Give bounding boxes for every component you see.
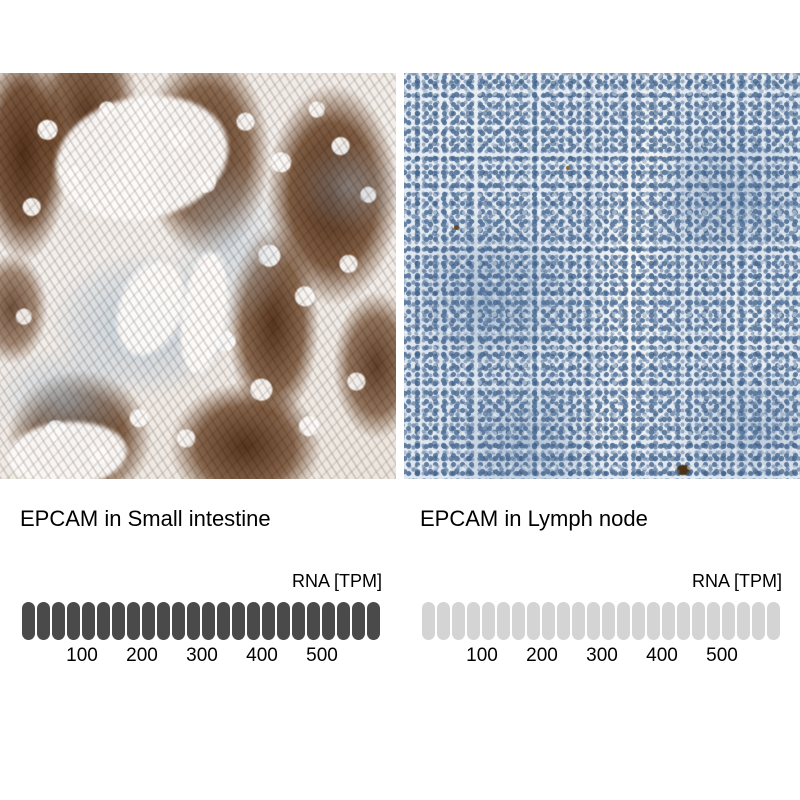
rna-unit-label: RNA [TPM] xyxy=(692,570,782,592)
rna-gauge-segment xyxy=(512,602,525,640)
pigment-speck xyxy=(454,225,459,230)
rna-gauge-tick-label: 300 xyxy=(186,644,218,668)
micrograph-small-intestine[interactable] xyxy=(0,73,396,479)
rna-gauge-segment xyxy=(752,602,765,640)
rna-gauge-tick-label: 200 xyxy=(126,644,158,668)
rna-gauge-segment xyxy=(217,602,230,640)
rna-unit-label: RNA [TPM] xyxy=(292,570,382,592)
rna-gauge-segment xyxy=(157,602,170,640)
rna-gauge-segment xyxy=(542,602,555,640)
rna-gauge-segment xyxy=(127,602,140,640)
rna-gauge-segment xyxy=(722,602,735,640)
rna-gauge-segment xyxy=(602,602,615,640)
caption-lymph-node: EPCAM in Lymph node xyxy=(420,506,648,532)
rna-gauge-segment xyxy=(662,602,675,640)
rna-gauge-segment xyxy=(707,602,720,640)
rna-gauge-segment xyxy=(172,602,185,640)
rna-gauge-segment xyxy=(467,602,480,640)
rna-gauge-segment xyxy=(277,602,290,640)
rna-gauge-segment xyxy=(97,602,110,640)
rna-gauge-ticks: 100200300400500 xyxy=(420,644,782,668)
rna-gauge-segment xyxy=(247,602,260,640)
rna-gauge-tick-label: 500 xyxy=(306,644,338,668)
rna-gauge-small-intestine: RNA [TPM] 100200300400500 xyxy=(20,570,382,680)
rna-gauge-bar[interactable] xyxy=(22,602,380,640)
tissue-lumen xyxy=(174,249,234,376)
panel-small-intestine[interactable] xyxy=(0,73,396,479)
rna-gauge-segment xyxy=(497,602,510,640)
rna-gauge-tick-label: 400 xyxy=(646,644,678,668)
panel-lymph-node[interactable] xyxy=(404,73,800,479)
rna-gauge-segment xyxy=(647,602,660,640)
rna-gauge-segment xyxy=(767,602,780,640)
pigment-speck xyxy=(677,465,690,475)
rna-gauge-bar[interactable] xyxy=(422,602,780,640)
rna-gauge-tick-label: 100 xyxy=(66,644,98,668)
rna-gauge-segment xyxy=(557,602,570,640)
rna-gauge-tick-label: 200 xyxy=(526,644,558,668)
rna-gauge-segment xyxy=(452,602,465,640)
rna-gauge-segment xyxy=(422,602,435,640)
rna-gauge-tick-label: 300 xyxy=(586,644,618,668)
rna-gauge-segment xyxy=(692,602,705,640)
rna-gauge-lymph-node: RNA [TPM] 100200300400500 xyxy=(420,570,782,680)
rna-gauge-segment xyxy=(437,602,450,640)
rna-gauge-segment xyxy=(632,602,645,640)
rna-gauge-segment xyxy=(262,602,275,640)
rna-gauge-segment xyxy=(67,602,80,640)
tissue-lumen xyxy=(6,418,129,479)
pigment-speck xyxy=(566,166,570,170)
rna-gauge-segment xyxy=(322,602,335,640)
caption-small-intestine: EPCAM in Small intestine xyxy=(20,506,271,532)
rna-gauge-tick-label: 400 xyxy=(246,644,278,668)
micrograph-panels xyxy=(0,73,800,479)
rna-gauge-segment xyxy=(52,602,65,640)
rna-gauge-segment xyxy=(142,602,155,640)
tissue-lumen xyxy=(45,81,241,236)
rna-gauge-segment xyxy=(82,602,95,640)
rna-gauge-segment xyxy=(677,602,690,640)
rna-gauge-tick-label: 500 xyxy=(706,644,738,668)
rna-gauge-segment xyxy=(527,602,540,640)
micrograph-lymph-node[interactable] xyxy=(404,73,800,479)
rna-gauge-segment xyxy=(587,602,600,640)
rna-gauge-segment xyxy=(337,602,350,640)
rna-gauge-segment xyxy=(112,602,125,640)
rna-gauge-segment xyxy=(617,602,630,640)
rna-gauge-segment xyxy=(292,602,305,640)
rna-gauge-segment xyxy=(572,602,585,640)
rna-gauge-tick-label: 100 xyxy=(466,644,498,668)
rna-gauge-segment xyxy=(737,602,750,640)
rna-gauge-segment xyxy=(482,602,495,640)
rna-gauge-ticks: 100200300400500 xyxy=(20,644,382,668)
rna-gauge-segment xyxy=(22,602,35,640)
rna-gauge-segment xyxy=(307,602,320,640)
rna-gauge-segment xyxy=(352,602,365,640)
rna-gauge-segment xyxy=(367,602,380,640)
rna-gauge-segment xyxy=(202,602,215,640)
rna-gauge-segment xyxy=(37,602,50,640)
rna-gauge-segment xyxy=(232,602,245,640)
tissue-lumen xyxy=(104,252,197,365)
rna-gauge-segment xyxy=(187,602,200,640)
